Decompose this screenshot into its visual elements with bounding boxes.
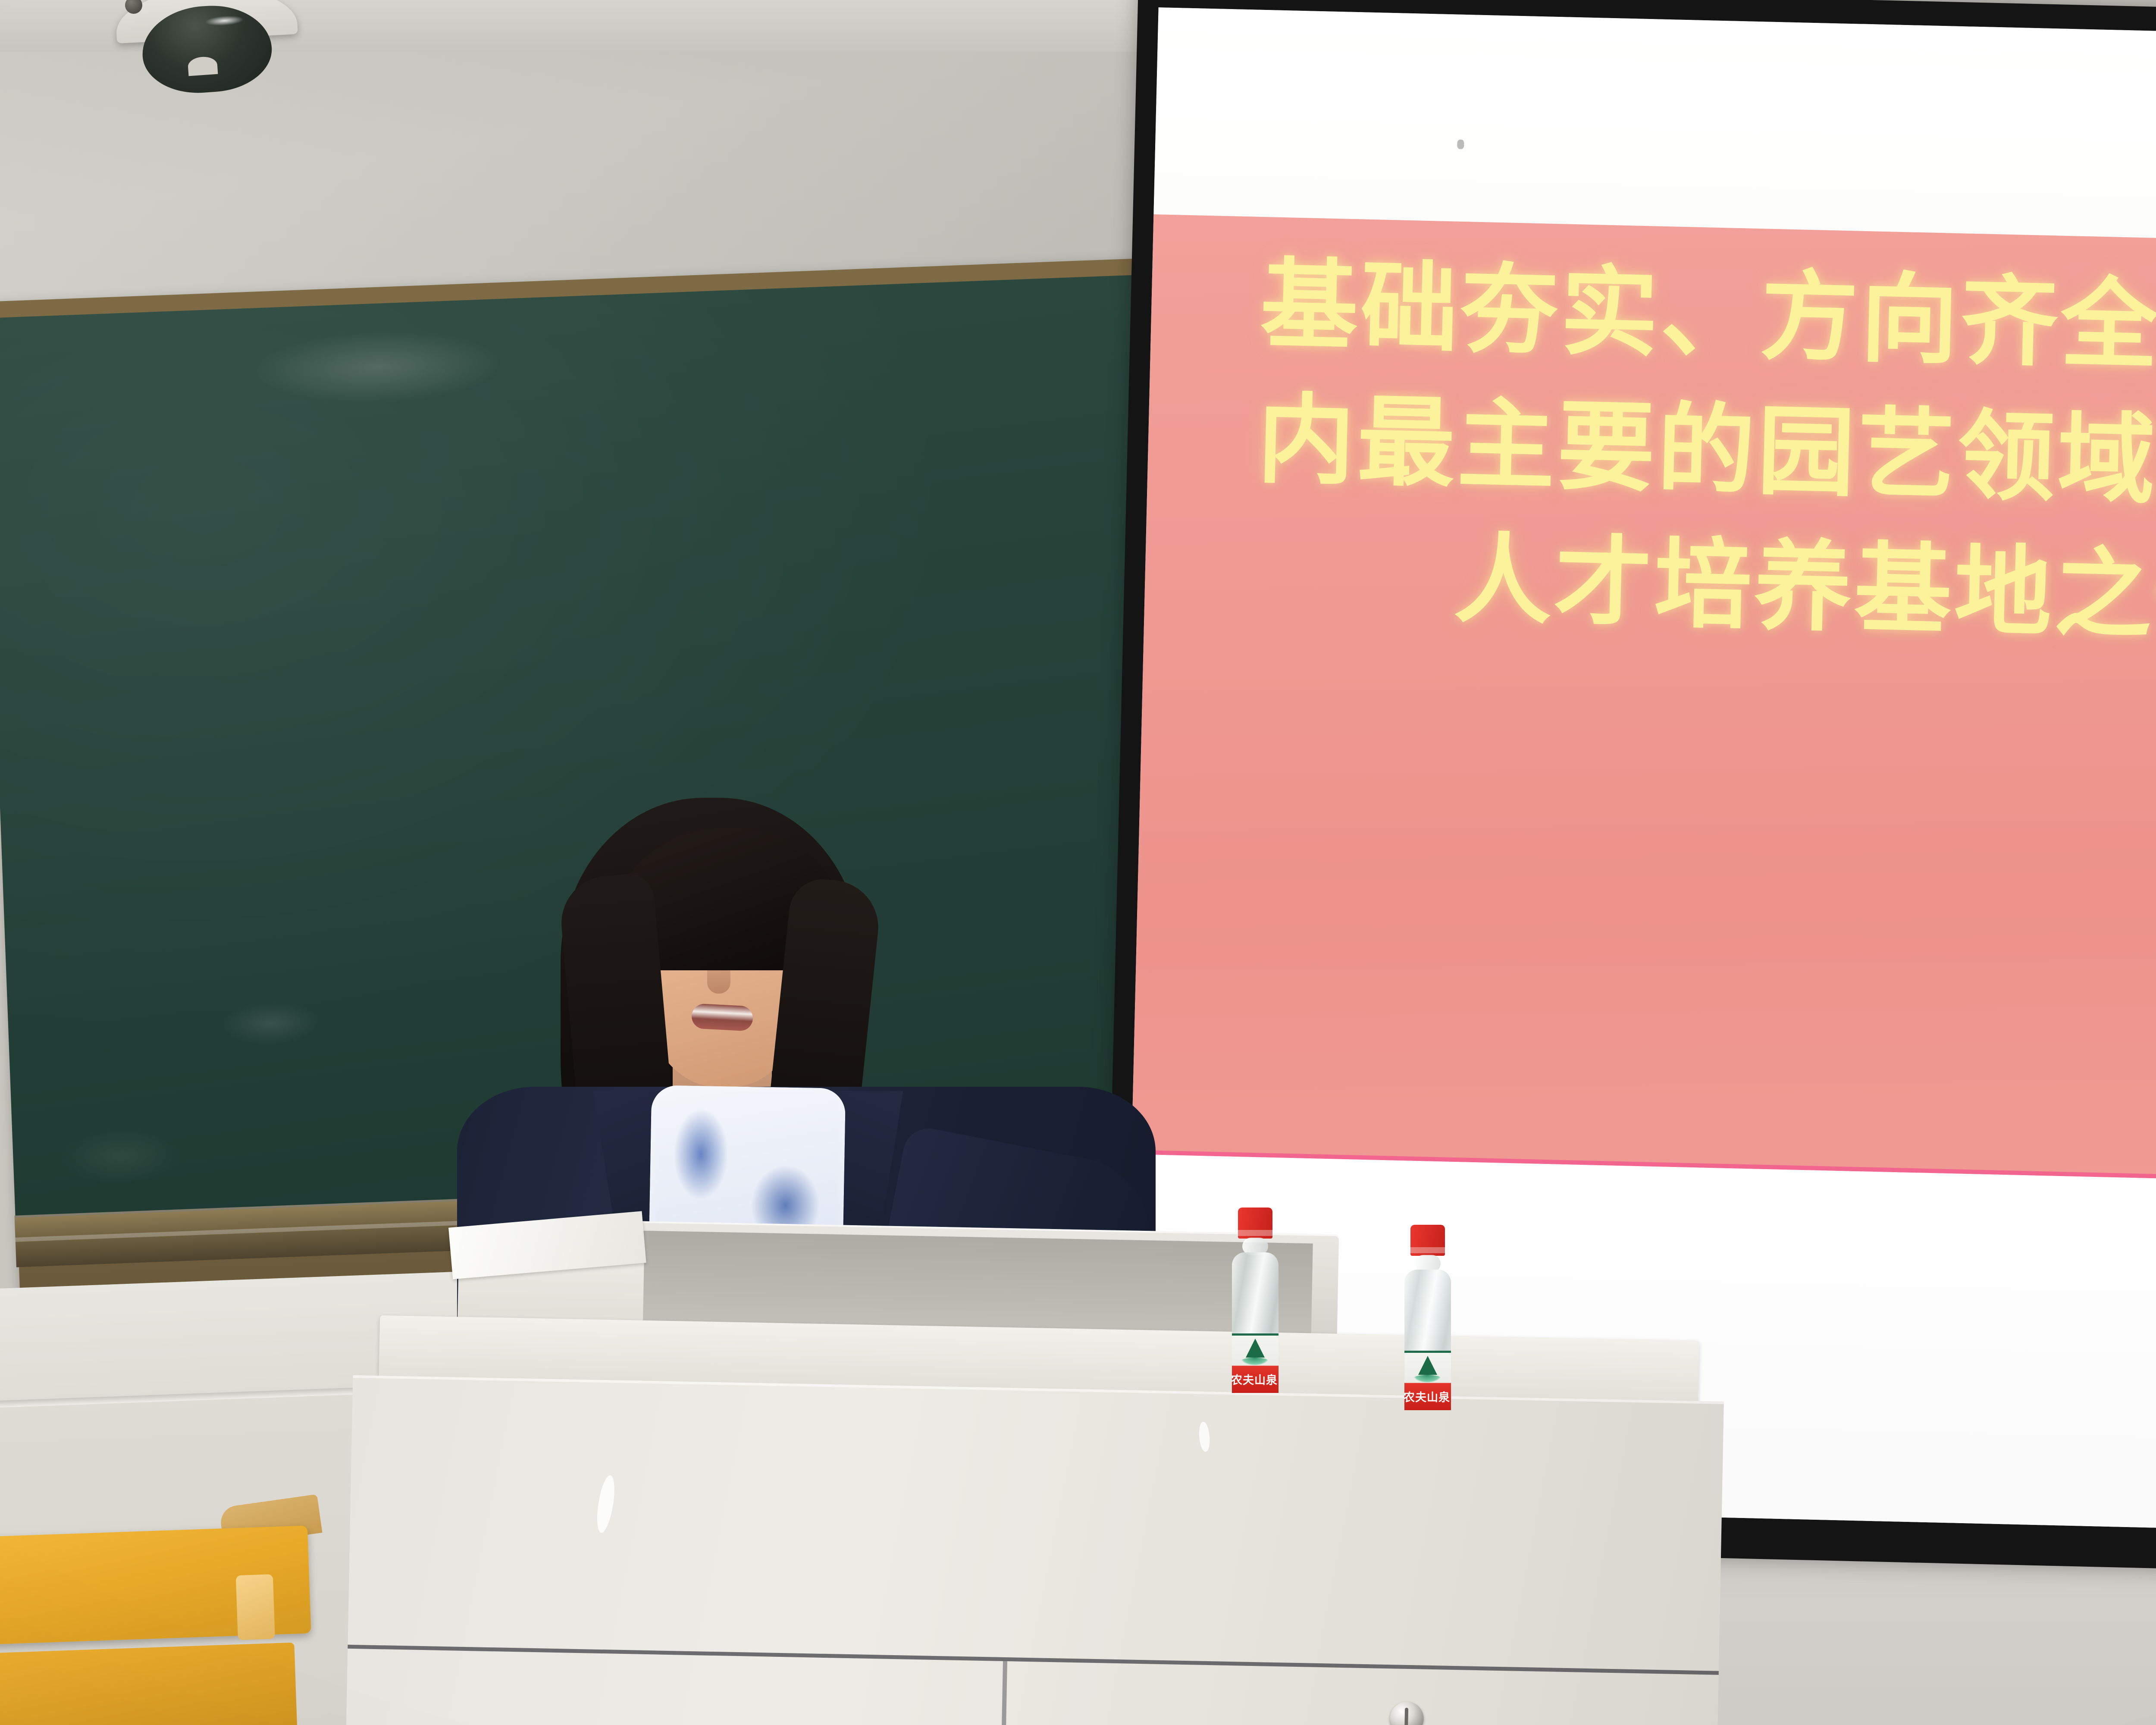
bottle-brand-label: 农夫山泉	[1231, 1371, 1278, 1387]
mountain-peak-icon	[1246, 1339, 1265, 1358]
chair-handhole	[236, 1574, 275, 1640]
water-wave-icon	[1241, 1358, 1269, 1365]
lecture-hall-scene: HIKVISION 基础夯实、方向齐全，是国 内最主要的园艺领域高层次 人才培养…	[0, 0, 2156, 1725]
slide-line-1: 基础夯实、方向齐全，是国	[1260, 254, 2156, 384]
bottle-cap	[1410, 1225, 1445, 1256]
bottle-brand-label: 农夫山泉	[1404, 1389, 1450, 1405]
slide-text-block: 基础夯实、方向齐全，是国 内最主要的园艺领域高层次 人才培养基地之一	[1144, 232, 2156, 656]
chair-seat	[0, 1643, 297, 1725]
lectern[interactable]	[372, 1341, 1698, 1725]
screen-speck	[1457, 140, 1464, 149]
water-wave-icon	[1413, 1375, 1442, 1383]
slide-line-2: 内最主要的园艺领域高层次	[1256, 389, 2156, 519]
water-bottle[interactable]: 农夫山泉	[1231, 1207, 1279, 1393]
slide-line-3: 人才培养基地之一	[1453, 529, 2156, 649]
mountain-peak-icon	[1418, 1356, 1437, 1375]
bottle-cap	[1238, 1207, 1272, 1239]
wooden-chair[interactable]	[0, 1499, 327, 1725]
slide-top-margin	[1153, 7, 2156, 248]
dome-camera-icon: HIKVISION	[116, 0, 297, 87]
mouth	[691, 1003, 754, 1031]
water-bottle[interactable]: 农夫山泉	[1404, 1225, 1452, 1410]
lectern-front-panel	[346, 1375, 1724, 1725]
